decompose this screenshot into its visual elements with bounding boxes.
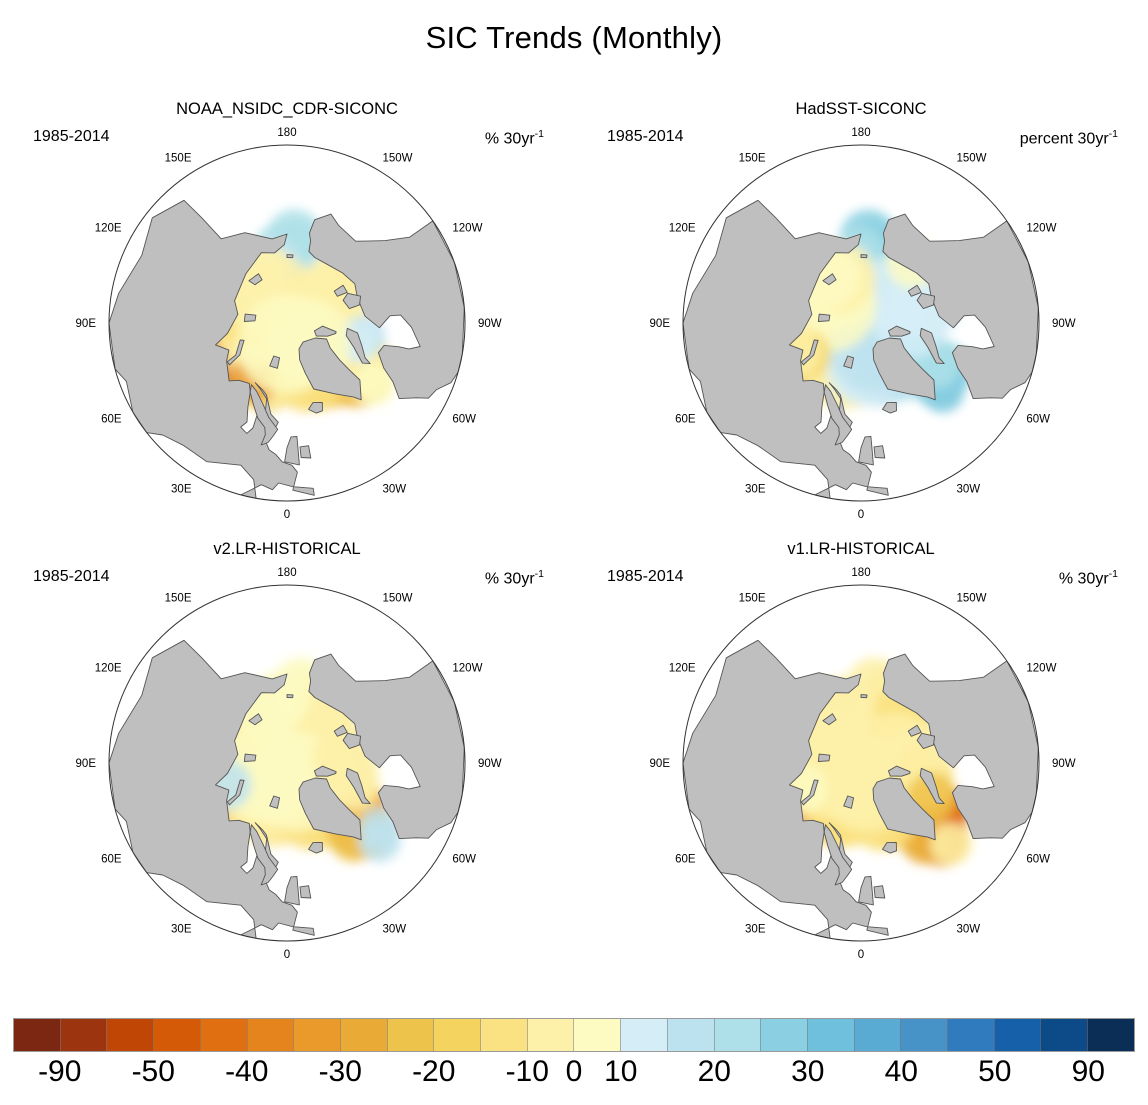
colorbar-cell (153, 1019, 200, 1051)
colorbar-tick: 30 (791, 1055, 824, 1089)
meridian-label: 120W (452, 663, 482, 675)
colorbar-cell (60, 1019, 107, 1051)
polar-map: 180150W120W90W60W30W030E60E90E120E150E (574, 558, 1148, 978)
colorbar-tick-labels: -90-50-40-30-20-100102030405090 (0, 1055, 1148, 1099)
meridian-label: 120W (452, 223, 482, 235)
meridian-label: 120E (669, 663, 696, 675)
figure-root: SIC Trends (Monthly) NOAA_NSIDC_CDR-SICO… (0, 0, 1148, 1105)
colorbar-tick: 10 (604, 1055, 637, 1089)
panel-title: NOAA_NSIDC_CDR-SICONC (0, 100, 574, 119)
colorbar-tick: -30 (319, 1055, 362, 1089)
meridian-label: 30W (383, 483, 407, 495)
meridian-label: 150E (165, 153, 192, 165)
meridian-label: 30E (171, 483, 192, 495)
polar-map: 180150W120W90W60W30W030E60E90E120E150E (0, 118, 574, 538)
colorbar-cell (200, 1019, 247, 1051)
colorbar (13, 1018, 1135, 1052)
meridian-label: 180 (851, 127, 870, 139)
colorbar-cell (854, 1019, 901, 1051)
meridian-label: 0 (858, 509, 864, 521)
colorbar-tick: -10 (506, 1055, 549, 1089)
colorbar-cell (573, 1019, 620, 1051)
colorbar-cell (247, 1019, 294, 1051)
meridian-label: 90E (76, 318, 97, 330)
meridian-label: 30E (745, 483, 766, 495)
colorbar-cell (527, 1019, 574, 1051)
colorbar-tick: 0 (566, 1055, 583, 1089)
meridian-label: 180 (851, 567, 870, 579)
meridian-label: 150E (739, 593, 766, 605)
meridian-label: 90W (478, 318, 502, 330)
meridian-label: 120E (669, 223, 696, 235)
colorbar-cell (760, 1019, 807, 1051)
colorbar-tick: 90 (1072, 1055, 1105, 1089)
meridian-label: 150E (739, 153, 766, 165)
meridian-label: 60E (675, 854, 696, 866)
meridian-label: 150W (383, 153, 413, 165)
colorbar-cell (293, 1019, 340, 1051)
meridian-label: 60E (675, 414, 696, 426)
meridian-label: 60E (101, 854, 122, 866)
meridian-label: 60W (452, 854, 476, 866)
colorbar-tick: -40 (225, 1055, 268, 1089)
colorbar-cell (807, 1019, 854, 1051)
panel-v1-lr-historical: v1.LR-HISTORICAL1985-2014% 30yr-1180150W… (574, 540, 1148, 980)
panel-title: v2.LR-HISTORICAL (0, 540, 574, 559)
meridian-label: 150W (383, 593, 413, 605)
meridian-label: 60W (1026, 414, 1050, 426)
colorbar-tick: 20 (698, 1055, 731, 1089)
meridian-label: 90W (1052, 318, 1076, 330)
colorbar-cell (714, 1019, 761, 1051)
panel-v2-lr-historical: v2.LR-HISTORICAL1985-2014% 30yr-1180150W… (0, 540, 574, 980)
meridian-label: 150W (957, 153, 987, 165)
colorbar-cell (900, 1019, 947, 1051)
colorbar-cell (340, 1019, 387, 1051)
panel-noaa-nsidc-cdr-siconc: NOAA_NSIDC_CDR-SICONC1985-2014% 30yr-118… (0, 100, 574, 540)
colorbar-cell (387, 1019, 434, 1051)
meridian-label: 60W (1026, 854, 1050, 866)
meridian-label: 90E (76, 758, 97, 770)
meridian-label: 60W (452, 414, 476, 426)
meridian-label: 30W (383, 923, 407, 935)
colorbar-cell (667, 1019, 714, 1051)
meridian-label: 120E (95, 663, 122, 675)
meridian-label: 30W (957, 483, 981, 495)
polar-map: 180150W120W90W60W30W030E60E90E120E150E (574, 118, 1148, 538)
meridian-label: 150E (165, 593, 192, 605)
meridian-label: 120W (1026, 663, 1056, 675)
colorbar-tick: 50 (978, 1055, 1011, 1089)
meridian-label: 30E (745, 923, 766, 935)
meridian-label: 30W (957, 923, 981, 935)
meridian-label: 180 (277, 127, 296, 139)
meridian-label: 30E (171, 923, 192, 935)
colorbar-cell (106, 1019, 153, 1051)
meridian-label: 180 (277, 567, 296, 579)
panel-hadsst-siconc: HadSST-SICONC1985-2014percent 30yr-11801… (574, 100, 1148, 540)
colorbar-cell (1040, 1019, 1087, 1051)
panel-title: HadSST-SICONC (574, 100, 1148, 119)
colorbar-tick: 40 (885, 1055, 918, 1089)
polar-map: 180150W120W90W60W30W030E60E90E120E150E (0, 558, 574, 978)
meridian-label: 90E (650, 318, 671, 330)
colorbar-tick: -20 (412, 1055, 455, 1089)
colorbar-cell (994, 1019, 1041, 1051)
colorbar-cell (947, 1019, 994, 1051)
meridian-label: 150W (957, 593, 987, 605)
meridian-label: 90E (650, 758, 671, 770)
colorbar-cell (620, 1019, 667, 1051)
meridian-label: 90W (478, 758, 502, 770)
meridian-label: 60E (101, 414, 122, 426)
colorbar-cell (14, 1019, 60, 1051)
page-title: SIC Trends (Monthly) (0, 20, 1148, 56)
colorbar-tick: -50 (132, 1055, 175, 1089)
panel-title: v1.LR-HISTORICAL (574, 540, 1148, 559)
colorbar-tick: -90 (38, 1055, 81, 1089)
meridian-label: 120W (1026, 223, 1056, 235)
meridian-label: 120E (95, 223, 122, 235)
colorbar-cell (1087, 1019, 1134, 1051)
meridian-label: 0 (284, 949, 290, 961)
meridian-label: 0 (284, 509, 290, 521)
colorbar-cell (480, 1019, 527, 1051)
meridian-label: 0 (858, 949, 864, 961)
colorbar-cell (433, 1019, 480, 1051)
meridian-label: 90W (1052, 758, 1076, 770)
